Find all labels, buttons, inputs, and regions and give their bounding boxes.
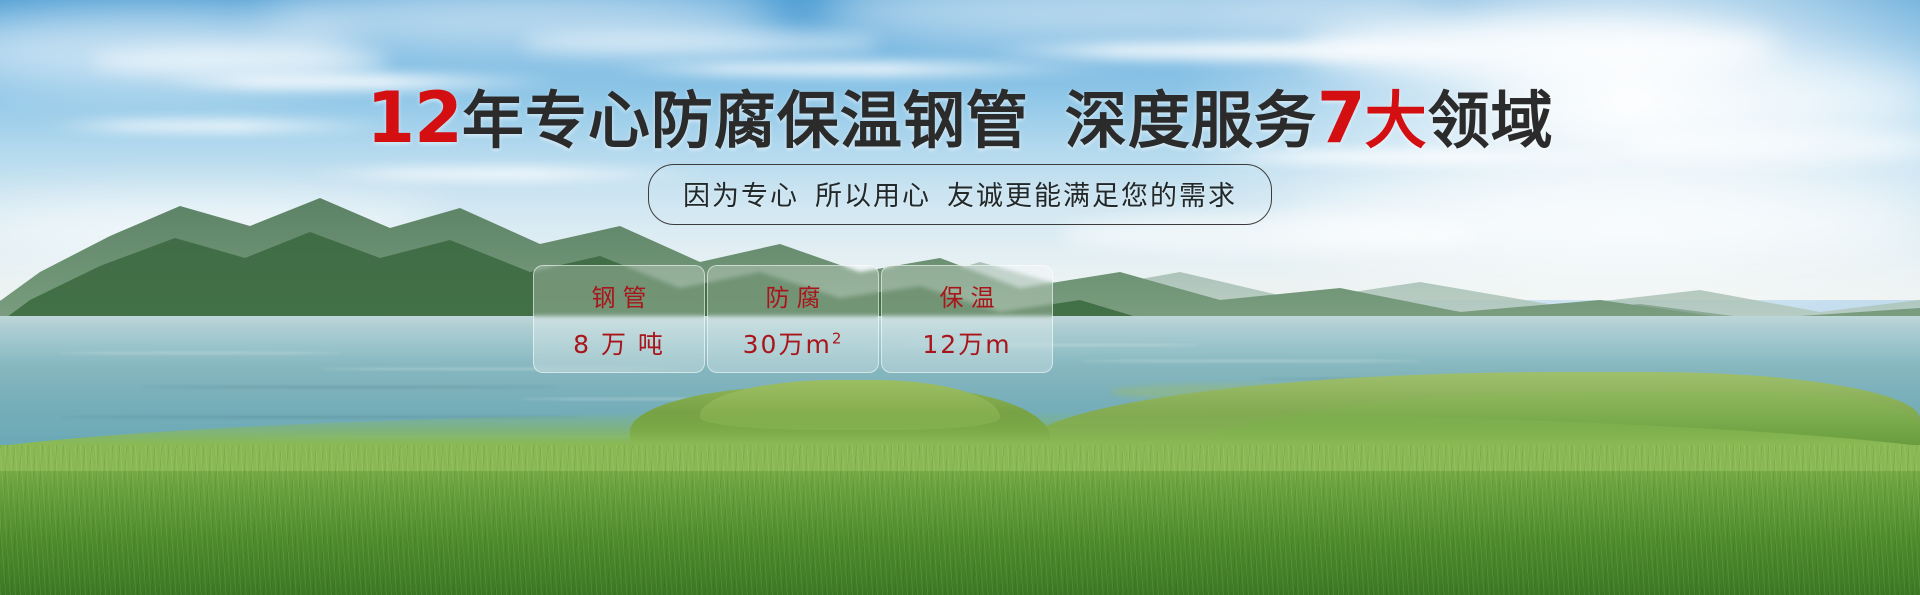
subtitle-part-3: 友诚更能满足您的需求: [947, 181, 1237, 212]
banner-headline: 12年专心防腐保温钢管深度服务7大领域: [0, 83, 1920, 153]
banner-subtitle-wrap: 因为专心所以用心友诚更能满足您的需求: [0, 164, 1920, 225]
hero-banner: 12年专心防腐保温钢管深度服务7大领域 因为专心所以用心友诚更能满足您的需求 钢…: [0, 0, 1920, 595]
headline-da-char: 大: [1365, 84, 1428, 157]
stat-card-group: 钢管 8 万 吨 防腐 30万m2 保温 12万m: [533, 265, 1053, 373]
headline-tail-text: 领域: [1428, 84, 1554, 157]
stat-card-title: 保温: [933, 278, 1002, 313]
grass-texture-overlay: [0, 445, 1920, 595]
stat-card-value-sup: 2: [832, 329, 844, 347]
stat-card-title: 防腐: [759, 278, 828, 313]
stat-card-value: 12万m: [922, 325, 1011, 361]
stat-card-anticorrosion: 防腐 30万m2: [707, 265, 879, 373]
stat-card-title: 钢管: [585, 278, 654, 313]
subtitle-part-1: 因为专心: [683, 181, 799, 212]
stat-card-value: 30万m2: [743, 325, 844, 361]
banner-subtitle: 因为专心所以用心友诚更能满足您的需求: [648, 164, 1272, 225]
headline-fields-number: 7: [1317, 77, 1365, 159]
subtitle-part-2: 所以用心: [815, 181, 931, 212]
stat-card-insulation: 保温 12万m: [881, 265, 1053, 373]
headline-years-number: 12: [366, 77, 461, 159]
stat-card-steel-pipe: 钢管 8 万 吨: [533, 265, 705, 373]
headline-main-text: 年专心防腐保温钢管: [462, 84, 1029, 157]
stat-card-value: 8 万 吨: [573, 325, 665, 361]
headline-service-text: 深度服务: [1065, 84, 1317, 157]
